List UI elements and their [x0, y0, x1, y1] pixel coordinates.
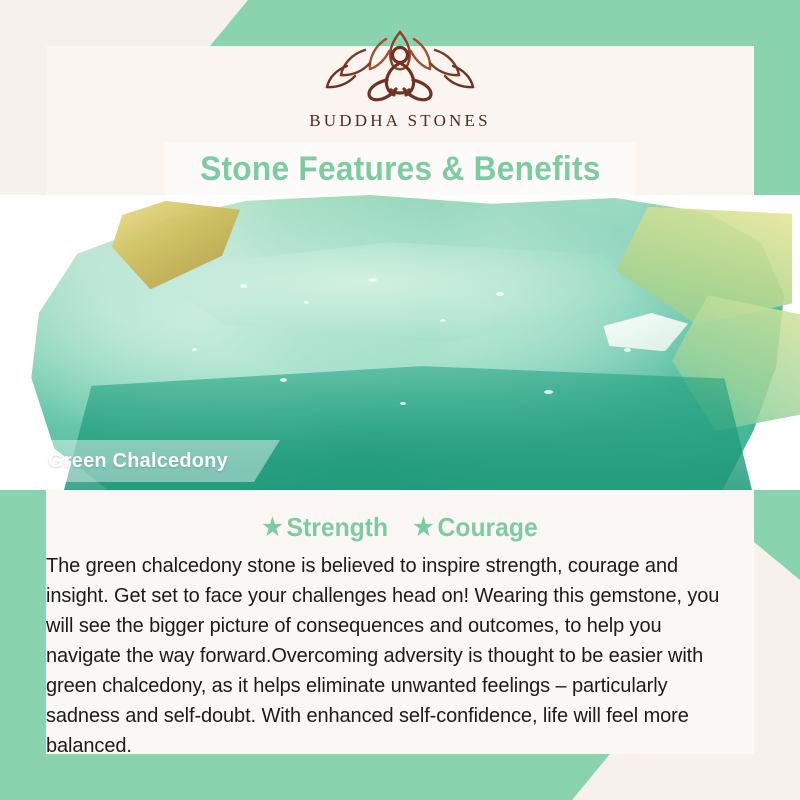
- stone-speck: [440, 319, 446, 322]
- title-banner: Stone Features & Benefits: [165, 142, 635, 196]
- star-icon: ★: [413, 516, 433, 540]
- lotus-meditation-figure-icon: [325, 26, 475, 109]
- stone-speck: [280, 378, 287, 382]
- stone-speck: [368, 278, 377, 282]
- stone-speck: [240, 284, 247, 288]
- brand-header: BUDDHA STONES: [46, 46, 754, 146]
- stone-speck: [400, 402, 406, 405]
- keyword-row: ★ Strength ★ Courage: [46, 490, 754, 543]
- keyword-strength: ★ Strength: [263, 512, 389, 543]
- brand-wordmark: BUDDHA STONES: [309, 111, 491, 131]
- keyword-label: Courage: [437, 512, 537, 543]
- poster-page: BUDDHA STONES Stone Features & Benefits: [46, 46, 754, 754]
- keyword-courage: ★ Courage: [413, 512, 537, 543]
- stone-photo: Green Chalcedony: [0, 195, 800, 490]
- stone-speck: [544, 390, 553, 394]
- star-icon: ★: [263, 516, 283, 540]
- stone-caption-label: Green Chalcedony: [0, 450, 228, 473]
- poster-root: BUDDHA STONES Stone Features & Benefits: [0, 0, 800, 800]
- keyword-label: Strength: [287, 512, 389, 543]
- page-title: Stone Features & Benefits: [200, 150, 601, 189]
- stone-caption-band: Green Chalcedony: [0, 440, 280, 482]
- decorative-band-top: [210, 0, 800, 46]
- content-section: ★ Strength ★ Courage The green chalcedon…: [46, 490, 754, 754]
- description-paragraph: The green chalcedony stone is believed t…: [46, 551, 736, 761]
